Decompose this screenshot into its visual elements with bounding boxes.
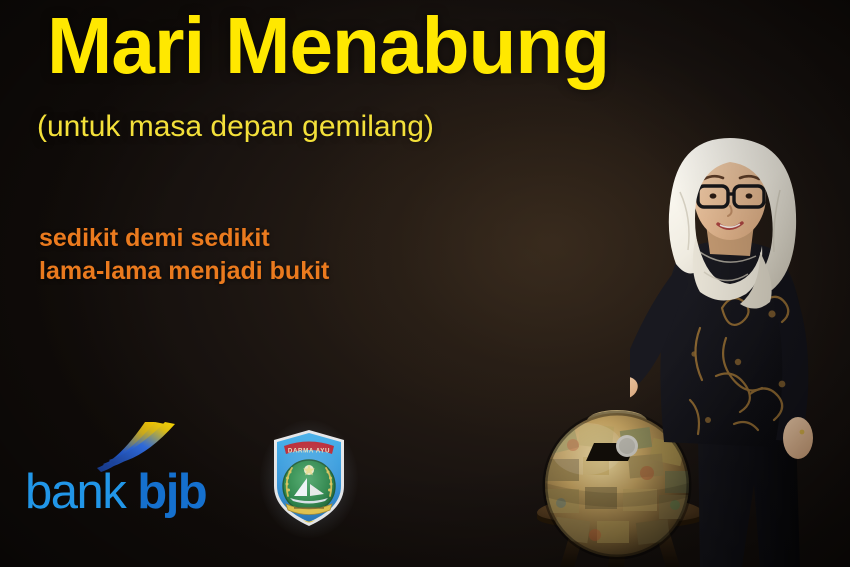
- kabupaten-indramayu-emblem: DARMA AYU: [270, 428, 348, 528]
- tagline-line-1: sedikit demi sedikit: [39, 222, 329, 255]
- page-title: Mari Menabung: [47, 7, 609, 85]
- poster-canvas: Mari Menabung (untuk masa depan gemilang…: [0, 0, 850, 567]
- page-subtitle: (untuk masa depan gemilang): [37, 110, 434, 144]
- bank-bjb-logo: bankbjb: [25, 418, 250, 523]
- emblem-motto-text: DARMA AYU: [288, 448, 330, 455]
- tagline-line-2: lama-lama menjadi bukit: [39, 255, 329, 288]
- woman-with-white-hijab: [630, 132, 850, 567]
- logo-word-bjb: bjb: [137, 465, 206, 519]
- tagline: sedikit demi sedikit lama-lama menjadi b…: [39, 222, 329, 288]
- logo-word-bank: bank: [25, 465, 125, 519]
- bank-bjb-wordmark: bankbjb: [25, 468, 206, 517]
